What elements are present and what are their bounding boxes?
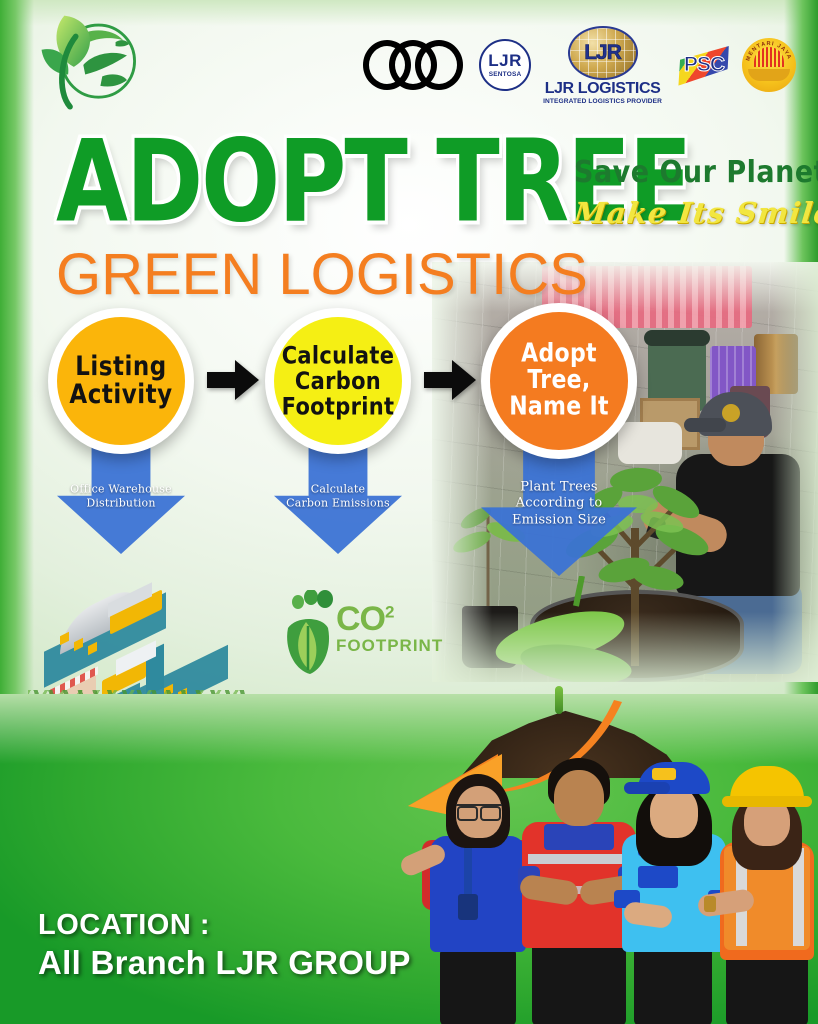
step-adopt-tree-name-it[interactable]: Adopt Tree, Name It bbox=[481, 303, 637, 459]
psc-logo: PSC bbox=[674, 39, 730, 91]
staff-2-pants bbox=[532, 942, 626, 1024]
staff-3-pocket bbox=[638, 866, 678, 888]
ljr-logistics-tagline: INTEGRATED LOGISTICS PROVIDER bbox=[543, 98, 662, 105]
step-listing-activity[interactable]: Listing Activity bbox=[48, 308, 194, 454]
ljr-logistics-logo: LJR LJR LOGISTICS INTEGRATED LOGISTICS P… bbox=[543, 26, 662, 105]
location-label: LOCATION : bbox=[38, 909, 411, 942]
ljr-sentosa-mark: LJR bbox=[488, 52, 522, 69]
co2-superscript: 2 bbox=[385, 603, 393, 622]
step-1-line-1: Listing bbox=[69, 353, 172, 381]
location-value: All Branch LJR GROUP bbox=[38, 944, 411, 982]
footprint-label: FOOTPRINT bbox=[336, 637, 443, 654]
right-arrow-icon bbox=[205, 356, 261, 404]
step-calculate-carbon-footprint[interactable]: Calculate Carbon Footprint bbox=[265, 308, 411, 454]
ljr-sentosa-logo: LJR SENTOSA bbox=[479, 39, 531, 91]
cap-logo-icon bbox=[652, 768, 676, 780]
co2-footprint-text: CO2 FOOTPRINT bbox=[336, 602, 443, 654]
step-2-line-2: Carbon bbox=[282, 368, 395, 394]
tagline-block: Save Our Planet Make Its Smile bbox=[574, 155, 794, 230]
page-subtitle: GREEN LOGISTICS bbox=[56, 246, 690, 304]
tri-rings-logo bbox=[363, 36, 467, 94]
svg-text:MENTARI JAYA RAYA: MENTARI JAYA RAYA bbox=[742, 38, 793, 63]
staff-member-4 bbox=[710, 766, 818, 1024]
ljr-logistics-name: LJR LOGISTICS bbox=[545, 81, 661, 98]
ljr-globe-mark: LJR bbox=[584, 41, 621, 65]
green-globe-leaf-icon bbox=[30, 8, 148, 120]
ljr-sentosa-sub: SENTOSA bbox=[489, 71, 522, 78]
green-footprint-icon bbox=[280, 590, 338, 676]
tagline-line-2: Make Its Smile bbox=[572, 196, 796, 230]
right-arrow-icon bbox=[422, 356, 478, 404]
staff-1-pants bbox=[440, 948, 516, 1024]
tagline-line-1: Save Our Planet bbox=[574, 155, 794, 190]
location-block: LOCATION : All Branch LJR GROUP bbox=[38, 909, 411, 982]
co2-label: CO bbox=[336, 600, 385, 638]
poster-header: LJR SENTOSA LJR LJR LOGISTICS INTEGRATED… bbox=[0, 0, 818, 120]
step-3-line-2: Name It bbox=[490, 394, 628, 421]
ljr-globe-icon: LJR bbox=[568, 26, 638, 80]
photo-fade-bottom bbox=[432, 612, 818, 682]
cap-badge-icon bbox=[722, 404, 740, 422]
co2-footprint-mark: CO2 FOOTPRINT bbox=[280, 586, 408, 678]
glasses-icon bbox=[456, 804, 502, 814]
step-3-line-1: Adopt Tree, bbox=[490, 341, 628, 395]
psc-mark: PSC bbox=[678, 53, 730, 77]
partner-logo-strip: LJR SENTOSA LJR LJR LOGISTICS INTEGRATED… bbox=[363, 26, 796, 105]
step-2-line-3: Footprint bbox=[282, 394, 395, 420]
poster-canvas: LJR SENTOSA LJR LJR LOGISTICS INTEGRATED… bbox=[0, 0, 818, 1024]
staff-2-collar-panel bbox=[544, 824, 614, 850]
staff-4-pants bbox=[726, 954, 808, 1024]
mentari-jaya-raya-logo: MENTARI JAYA RAYA bbox=[742, 38, 796, 92]
staff-2-face bbox=[554, 770, 604, 826]
safety-helmet-icon bbox=[730, 766, 804, 806]
staff-group-photo bbox=[410, 754, 810, 1024]
wristwatch-icon bbox=[704, 896, 716, 912]
step-2-line-1: Calculate bbox=[282, 343, 395, 369]
staff-3-pants bbox=[634, 946, 712, 1024]
staff-1-id-badge bbox=[458, 894, 478, 920]
staff-2-reflective-stripe bbox=[528, 854, 630, 864]
step-1-line-2: Activity bbox=[69, 381, 172, 409]
ring-yellow-icon bbox=[415, 40, 463, 90]
